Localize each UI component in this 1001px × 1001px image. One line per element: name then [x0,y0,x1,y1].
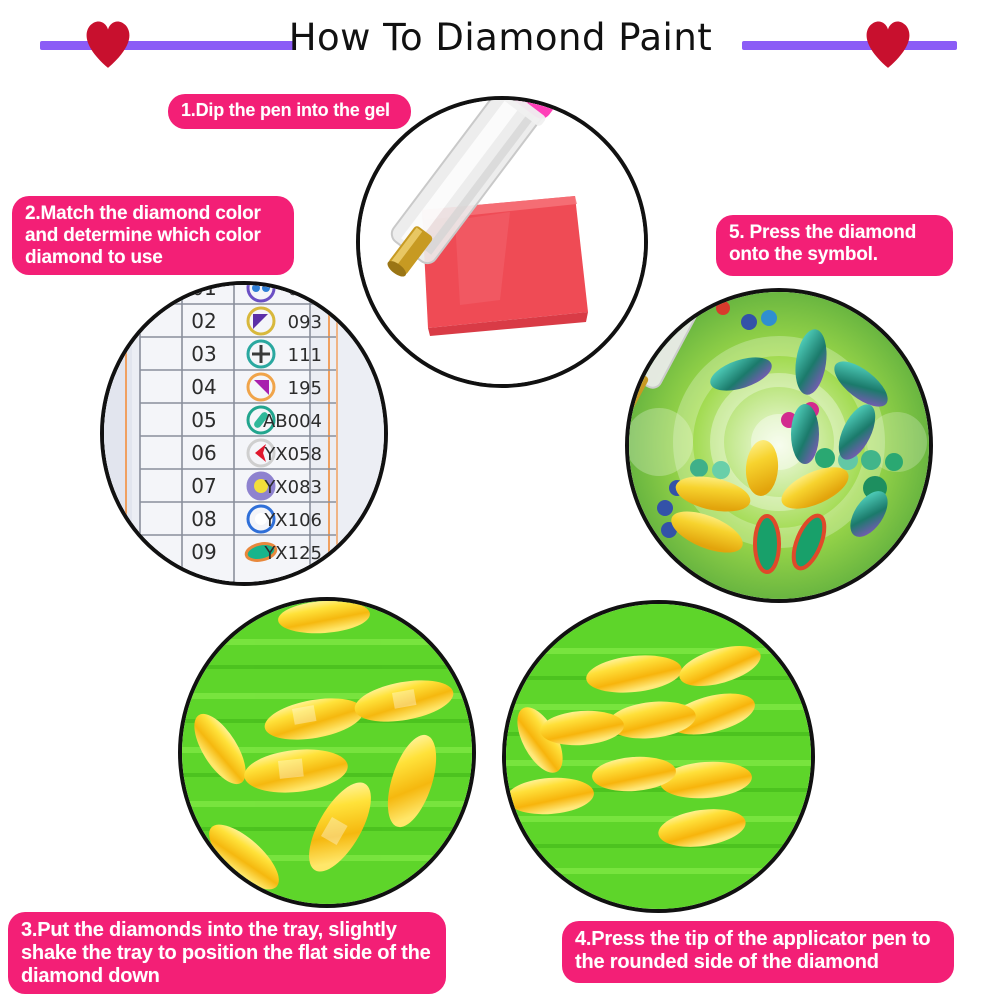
chart-row-code: 093 [288,312,322,333]
chart-row-number: 06 [191,441,216,465]
pen-in-gel-illustration [360,100,644,384]
chart-row-number: 08 [191,507,216,531]
chart-row-number: 03 [191,342,216,366]
page-title: How To Diamond Paint [0,16,1001,59]
step-3-label: 3.Put the diamonds into the tray, slight… [8,912,446,994]
step-4-label: 4.Press the tip of the applicator pen to… [562,921,954,983]
press-onto-symbol-illustration [629,292,929,599]
chart-row-number: 04 [191,375,216,399]
chart-row-code: YX083 [263,477,322,498]
chart-row-code: YX125 [263,543,322,564]
chart-row-number: 01 [191,285,216,300]
chart-row-number: 02 [191,309,216,333]
photo-press-onto-symbol [625,288,933,603]
photo-pen-picking-diamond [502,600,815,913]
photo-pen-in-gel [356,96,648,388]
chart-row-number: 09 [191,540,216,564]
photo-color-chart: 0102002093031110419505AB00406YX05807YX08… [100,281,388,586]
chart-row-code: YX058 [263,444,322,465]
diamonds-in-tray-illustration [182,601,472,904]
chart-row-code: YX106 [263,510,322,531]
chart-row-code: 111 [288,345,322,366]
step-2-label: 2.Match the diamond color and determine … [12,196,294,275]
chart-row-code: 020 [288,285,322,300]
step-1-label: 1.Dip the pen into the gel [168,94,411,129]
chart-row-number: 05 [191,408,216,432]
page-header: How To Diamond Paint [0,0,1001,90]
pen-picking-diamond-illustration [506,604,811,909]
color-chart-illustration: 0102002093031110419505AB00406YX05807YX08… [104,285,384,582]
chart-row-code: 195 [288,378,322,399]
photo-diamonds-in-tray [178,597,476,908]
chart-row-number: 07 [191,474,216,498]
chart-row-code: AB004 [263,411,322,432]
step-5-label: 5. Press the diamond onto the symbol. [716,215,953,276]
